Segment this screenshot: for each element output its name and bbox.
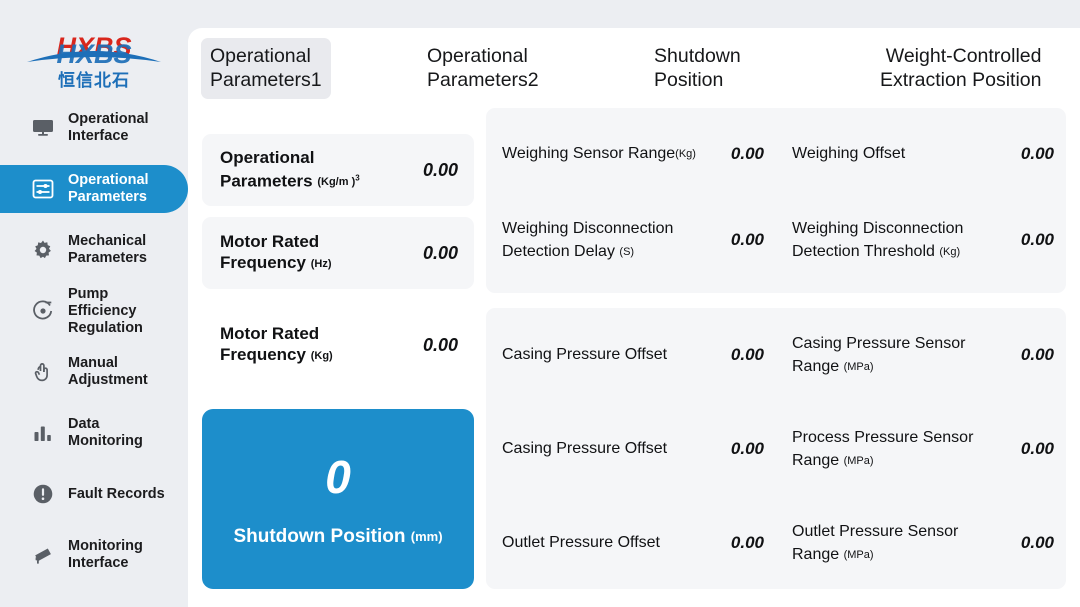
- param-value[interactable]: 0.00: [1002, 230, 1054, 250]
- param-value[interactable]: 0.00: [712, 230, 764, 250]
- param-unit: (MPa): [844, 361, 874, 373]
- sidebar-item-label: Fault Records: [68, 486, 165, 503]
- hand-tap-icon: [30, 359, 56, 385]
- sidebar-item-label: Monitoring Interface: [68, 538, 178, 572]
- param-unit: (Kg): [311, 350, 333, 362]
- param-row-weighing-disconnection-detection-threshold[interactable]: Weighing Disconnection Detection Thresho…: [776, 192, 1066, 288]
- main-panel: Operational Parameters1 Operational Para…: [188, 28, 1080, 607]
- param-value[interactable]: 0.00: [1002, 345, 1054, 365]
- sidebar-item-data-monitoring[interactable]: Data Monitoring: [0, 409, 188, 457]
- param-unit: (Hz): [311, 258, 332, 270]
- weighing-parameters-panel: Weighing Sensor Range(Kg) 0.00 Weighing …: [486, 108, 1066, 293]
- param-unit: (S): [619, 246, 634, 258]
- param-unit: (Kg): [675, 148, 696, 160]
- sidebar-item-monitoring-interface[interactable]: Monitoring Interface: [0, 531, 188, 579]
- shutdown-position-unit: (mm): [411, 529, 443, 544]
- brand-logo: HXBS HXBS 恒信北石: [0, 26, 188, 98]
- param-value[interactable]: 0.00: [712, 533, 764, 553]
- param-unit: (Kg/m )3: [317, 176, 359, 188]
- param-row-casing-pressure-sensor-range[interactable]: Casing Pressure Sensor Range (MPa) 0.00: [776, 308, 1066, 402]
- sidebar-nav: Operational Interface Operational Parame…: [0, 104, 188, 592]
- sidebar-item-label: Mechanical Parameters: [68, 233, 178, 267]
- param-unit: (MPa): [844, 455, 874, 467]
- param-card-operational-parameters[interactable]: Operational Parameters (Kg/m )3 0.00: [202, 134, 474, 206]
- sidebar-item-manual-adjustment[interactable]: Manual Adjustment: [0, 348, 188, 396]
- param-value[interactable]: 0.00: [1002, 533, 1054, 553]
- param-value[interactable]: 0.00: [404, 243, 458, 264]
- param-value[interactable]: 0.00: [712, 144, 764, 164]
- sidebar-item-label: Pump Efficiency Regulation: [68, 286, 178, 337]
- param-card-motor-rated-frequency-hz[interactable]: Motor Rated Frequency (Hz) 0.00: [202, 217, 474, 289]
- param-row-weighing-disconnection-detection-delay[interactable]: Weighing Disconnection Detection Delay (…: [486, 192, 776, 288]
- tab-weight-controlled-extraction-position[interactable]: Weight-Controlled Extraction Position: [871, 38, 1051, 99]
- sidebar-item-operational-interface[interactable]: Operational Interface: [0, 104, 188, 152]
- param-unit: (MPa): [844, 549, 874, 561]
- sidebar-item-label: Manual Adjustment: [68, 355, 178, 389]
- sidebar-item-fault-records[interactable]: Fault Records: [0, 470, 188, 518]
- sidebar-item-label: Data Monitoring: [68, 416, 178, 450]
- gear-icon: [30, 237, 56, 263]
- bar-chart-icon: [30, 420, 56, 446]
- tab-shutdown-position[interactable]: Shutdown Position: [645, 38, 750, 99]
- sidebar-item-mechanical-parameters[interactable]: Mechanical Parameters: [0, 226, 188, 274]
- param-value[interactable]: 0.00: [712, 345, 764, 365]
- tab-operational-parameters-2[interactable]: Operational Parameters2: [418, 38, 548, 99]
- app-root: HXBS HXBS 恒信北石 Operational Interface: [0, 0, 1080, 607]
- sidebar-item-label: Operational Interface: [68, 111, 178, 145]
- param-value[interactable]: 0.00: [404, 160, 458, 181]
- param-row-weighing-offset[interactable]: Weighing Offset 0.00: [776, 116, 1066, 192]
- param-row-outlet-pressure-offset[interactable]: Outlet Pressure Offset 0.00: [486, 496, 776, 590]
- shutdown-position-value: 0: [325, 451, 351, 503]
- param-row-weighing-sensor-range[interactable]: Weighing Sensor Range(Kg) 0.00: [486, 116, 776, 192]
- pressure-parameters-panel: Casing Pressure Offset 0.00 Casing Press…: [486, 308, 1066, 589]
- param-label: Weighing Disconnection Detection Thresho…: [792, 217, 1002, 264]
- sliders-icon: [30, 176, 56, 202]
- param-row-casing-pressure-offset-1[interactable]: Casing Pressure Offset 0.00: [486, 308, 776, 402]
- param-label: Casing Pressure Sensor Range (MPa): [792, 332, 1002, 379]
- param-label: Weighing Disconnection Detection Delay (…: [502, 217, 712, 264]
- tab-bar: Operational Parameters1 Operational Para…: [188, 38, 1080, 100]
- cctv-camera-icon: [30, 542, 56, 568]
- param-card-motor-rated-frequency-kg[interactable]: Motor Rated Frequency (Kg) 0.00: [202, 309, 474, 381]
- svg-text:HXBS: HXBS: [56, 39, 131, 69]
- param-value[interactable]: 0.00: [1002, 144, 1054, 164]
- parameters-content: Operational Parameters (Kg/m )3 0.00 Mot…: [188, 104, 1080, 594]
- param-value[interactable]: 0.00: [1002, 439, 1054, 459]
- alert-circle-icon: [30, 481, 56, 507]
- param-label: Motor Rated Frequency (Hz): [220, 231, 404, 275]
- param-label: Casing Pressure Offset: [502, 343, 712, 367]
- param-row-outlet-pressure-sensor-range[interactable]: Outlet Pressure Sensor Range (MPa) 0.00: [776, 496, 1066, 590]
- param-label: Casing Pressure Offset: [502, 437, 712, 461]
- param-unit: (Kg): [939, 246, 960, 258]
- param-label: Weighing Sensor Range(Kg): [502, 142, 712, 166]
- param-label: Operational Parameters (Kg/m )3: [220, 147, 404, 194]
- param-label: Weighing Offset: [792, 142, 1002, 166]
- svg-text:恒信北石: 恒信北石: [58, 70, 130, 91]
- left-parameter-column: Operational Parameters (Kg/m )3 0.00 Mot…: [202, 104, 474, 589]
- shutdown-position-card[interactable]: 0 Shutdown Position (mm): [202, 409, 474, 589]
- sidebar-item-operational-parameters[interactable]: Operational Parameters: [0, 165, 188, 213]
- param-label: Outlet Pressure Sensor Range (MPa): [792, 520, 1002, 567]
- shutdown-position-label: Shutdown Position (mm): [233, 525, 442, 548]
- param-row-casing-pressure-offset-2[interactable]: Casing Pressure Offset 0.00: [486, 402, 776, 496]
- param-value[interactable]: 0.00: [712, 439, 764, 459]
- sidebar: HXBS HXBS 恒信北石 Operational Interface: [0, 0, 188, 607]
- monitor-icon: [30, 115, 56, 141]
- sidebar-item-label: Operational Parameters: [68, 172, 178, 206]
- param-label: Process Pressure Sensor Range (MPa): [792, 426, 1002, 473]
- param-label: Outlet Pressure Offset: [502, 531, 712, 555]
- tab-operational-parameters-1[interactable]: Operational Parameters1: [201, 38, 331, 99]
- hxbs-logo-icon: HXBS HXBS 恒信北石: [21, 30, 167, 94]
- param-label: Motor Rated Frequency (Kg): [220, 323, 404, 367]
- param-row-process-pressure-sensor-range[interactable]: Process Pressure Sensor Range (MPa) 0.00: [776, 402, 1066, 496]
- param-value[interactable]: 0.00: [404, 335, 458, 356]
- pump-dial-icon: [30, 298, 56, 324]
- sidebar-item-pump-efficiency-regulation[interactable]: Pump Efficiency Regulation: [0, 287, 188, 335]
